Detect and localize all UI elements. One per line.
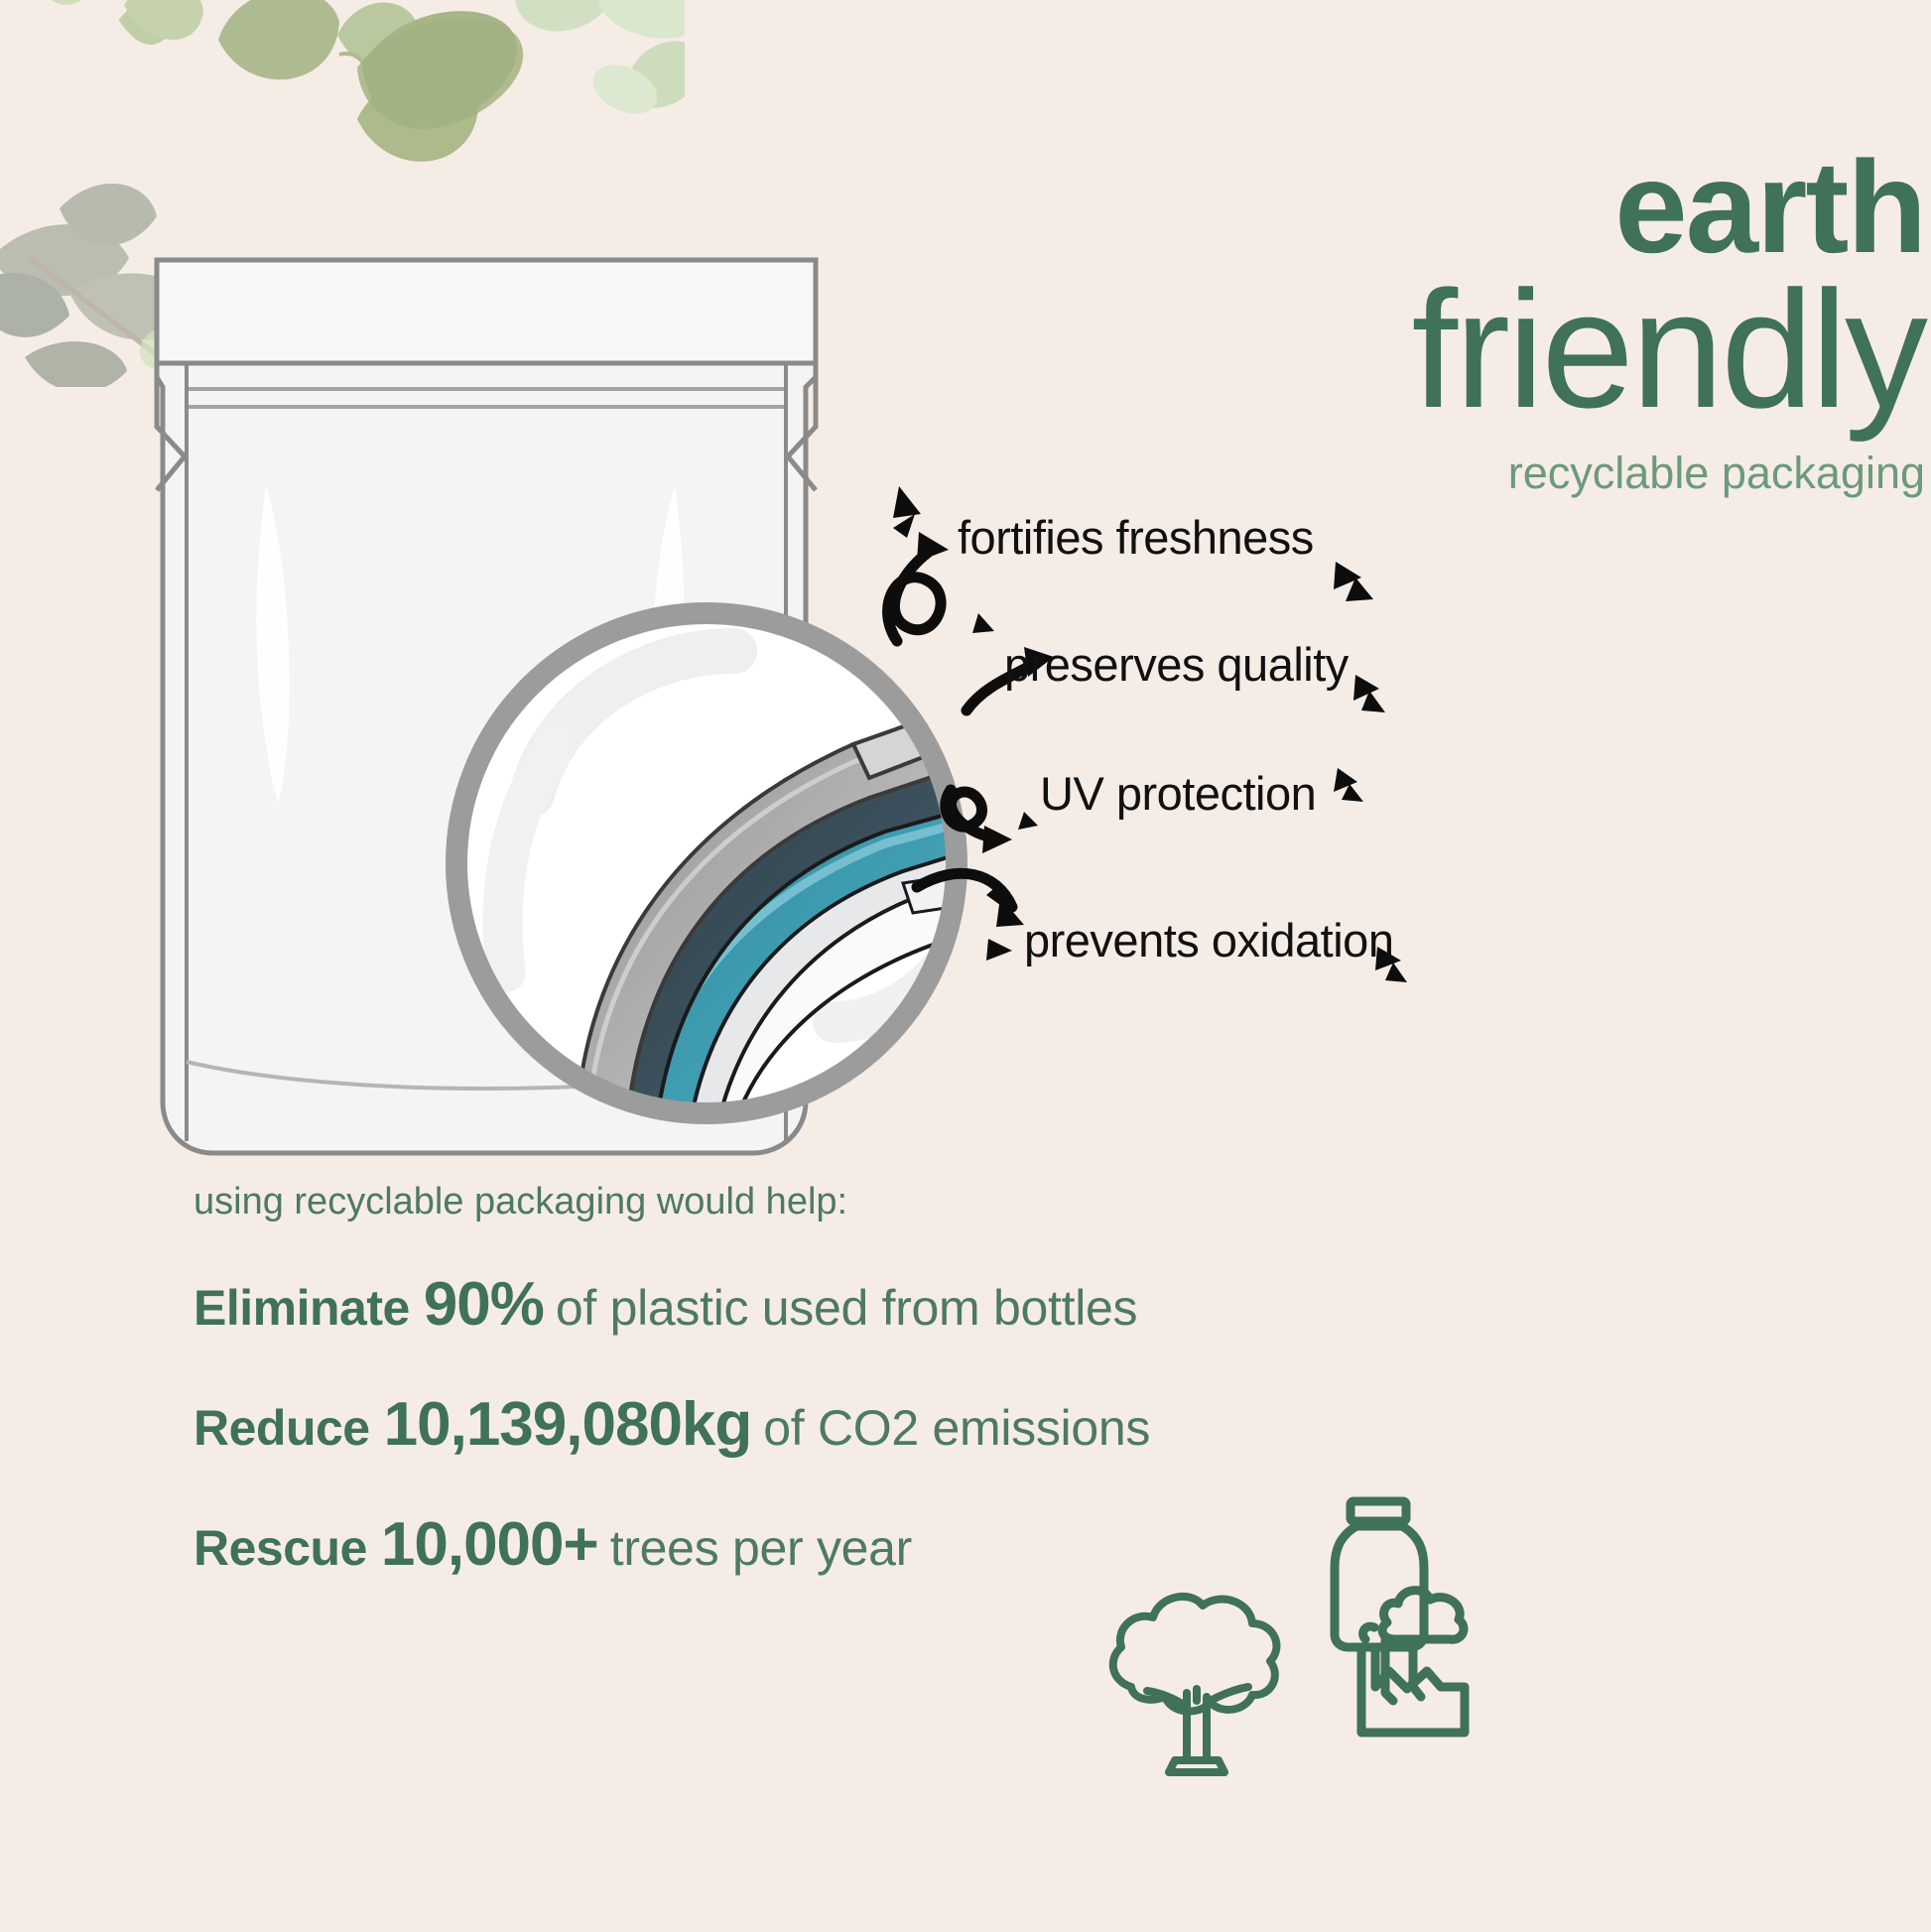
arrow-1: [888, 552, 941, 641]
stats-lead-text: using recyclable packaging would help:: [193, 1181, 1781, 1224]
feature-callouts: fortifies freshness preserves quality UV…: [873, 466, 1931, 1042]
stats-block: using recyclable packaging would help: E…: [193, 1181, 1781, 1629]
infographic-canvas: earth friendly recyclable packaging: [0, 0, 1931, 1932]
stat-value: 90%: [424, 1269, 544, 1340]
feature-label-prevents-oxidation: prevents oxidation: [1024, 913, 1393, 967]
stat-row: Rescue 10,000+ trees per year: [193, 1509, 1781, 1580]
headline-line-2: friendly: [1131, 271, 1925, 430]
feature-label-uv-protection: UV protection: [1040, 766, 1316, 821]
stat-verb: Reduce: [193, 1399, 370, 1457]
stat-value: 10,139,080kg: [384, 1389, 752, 1460]
stat-row: Eliminate 90% of plastic used from bottl…: [193, 1269, 1781, 1340]
stat-tail: of CO2 emissions: [763, 1399, 1150, 1457]
stat-tail: of plastic used from bottles: [556, 1279, 1137, 1337]
stat-tail: trees per year: [610, 1519, 912, 1577]
stat-row: Reduce 10,139,080kg of CO2 emissions: [193, 1389, 1781, 1460]
stat-verb: Eliminate: [193, 1279, 410, 1337]
headline-line-1: earth: [1131, 147, 1925, 267]
headline-block: earth friendly recyclable packaging: [1131, 147, 1925, 499]
stat-value: 10,000+: [381, 1509, 598, 1580]
stat-verb: Rescue: [193, 1519, 367, 1577]
feature-label-preserves-quality: preserves quality: [1004, 637, 1349, 692]
feature-label-fortifies-freshness: fortifies freshness: [958, 510, 1314, 565]
